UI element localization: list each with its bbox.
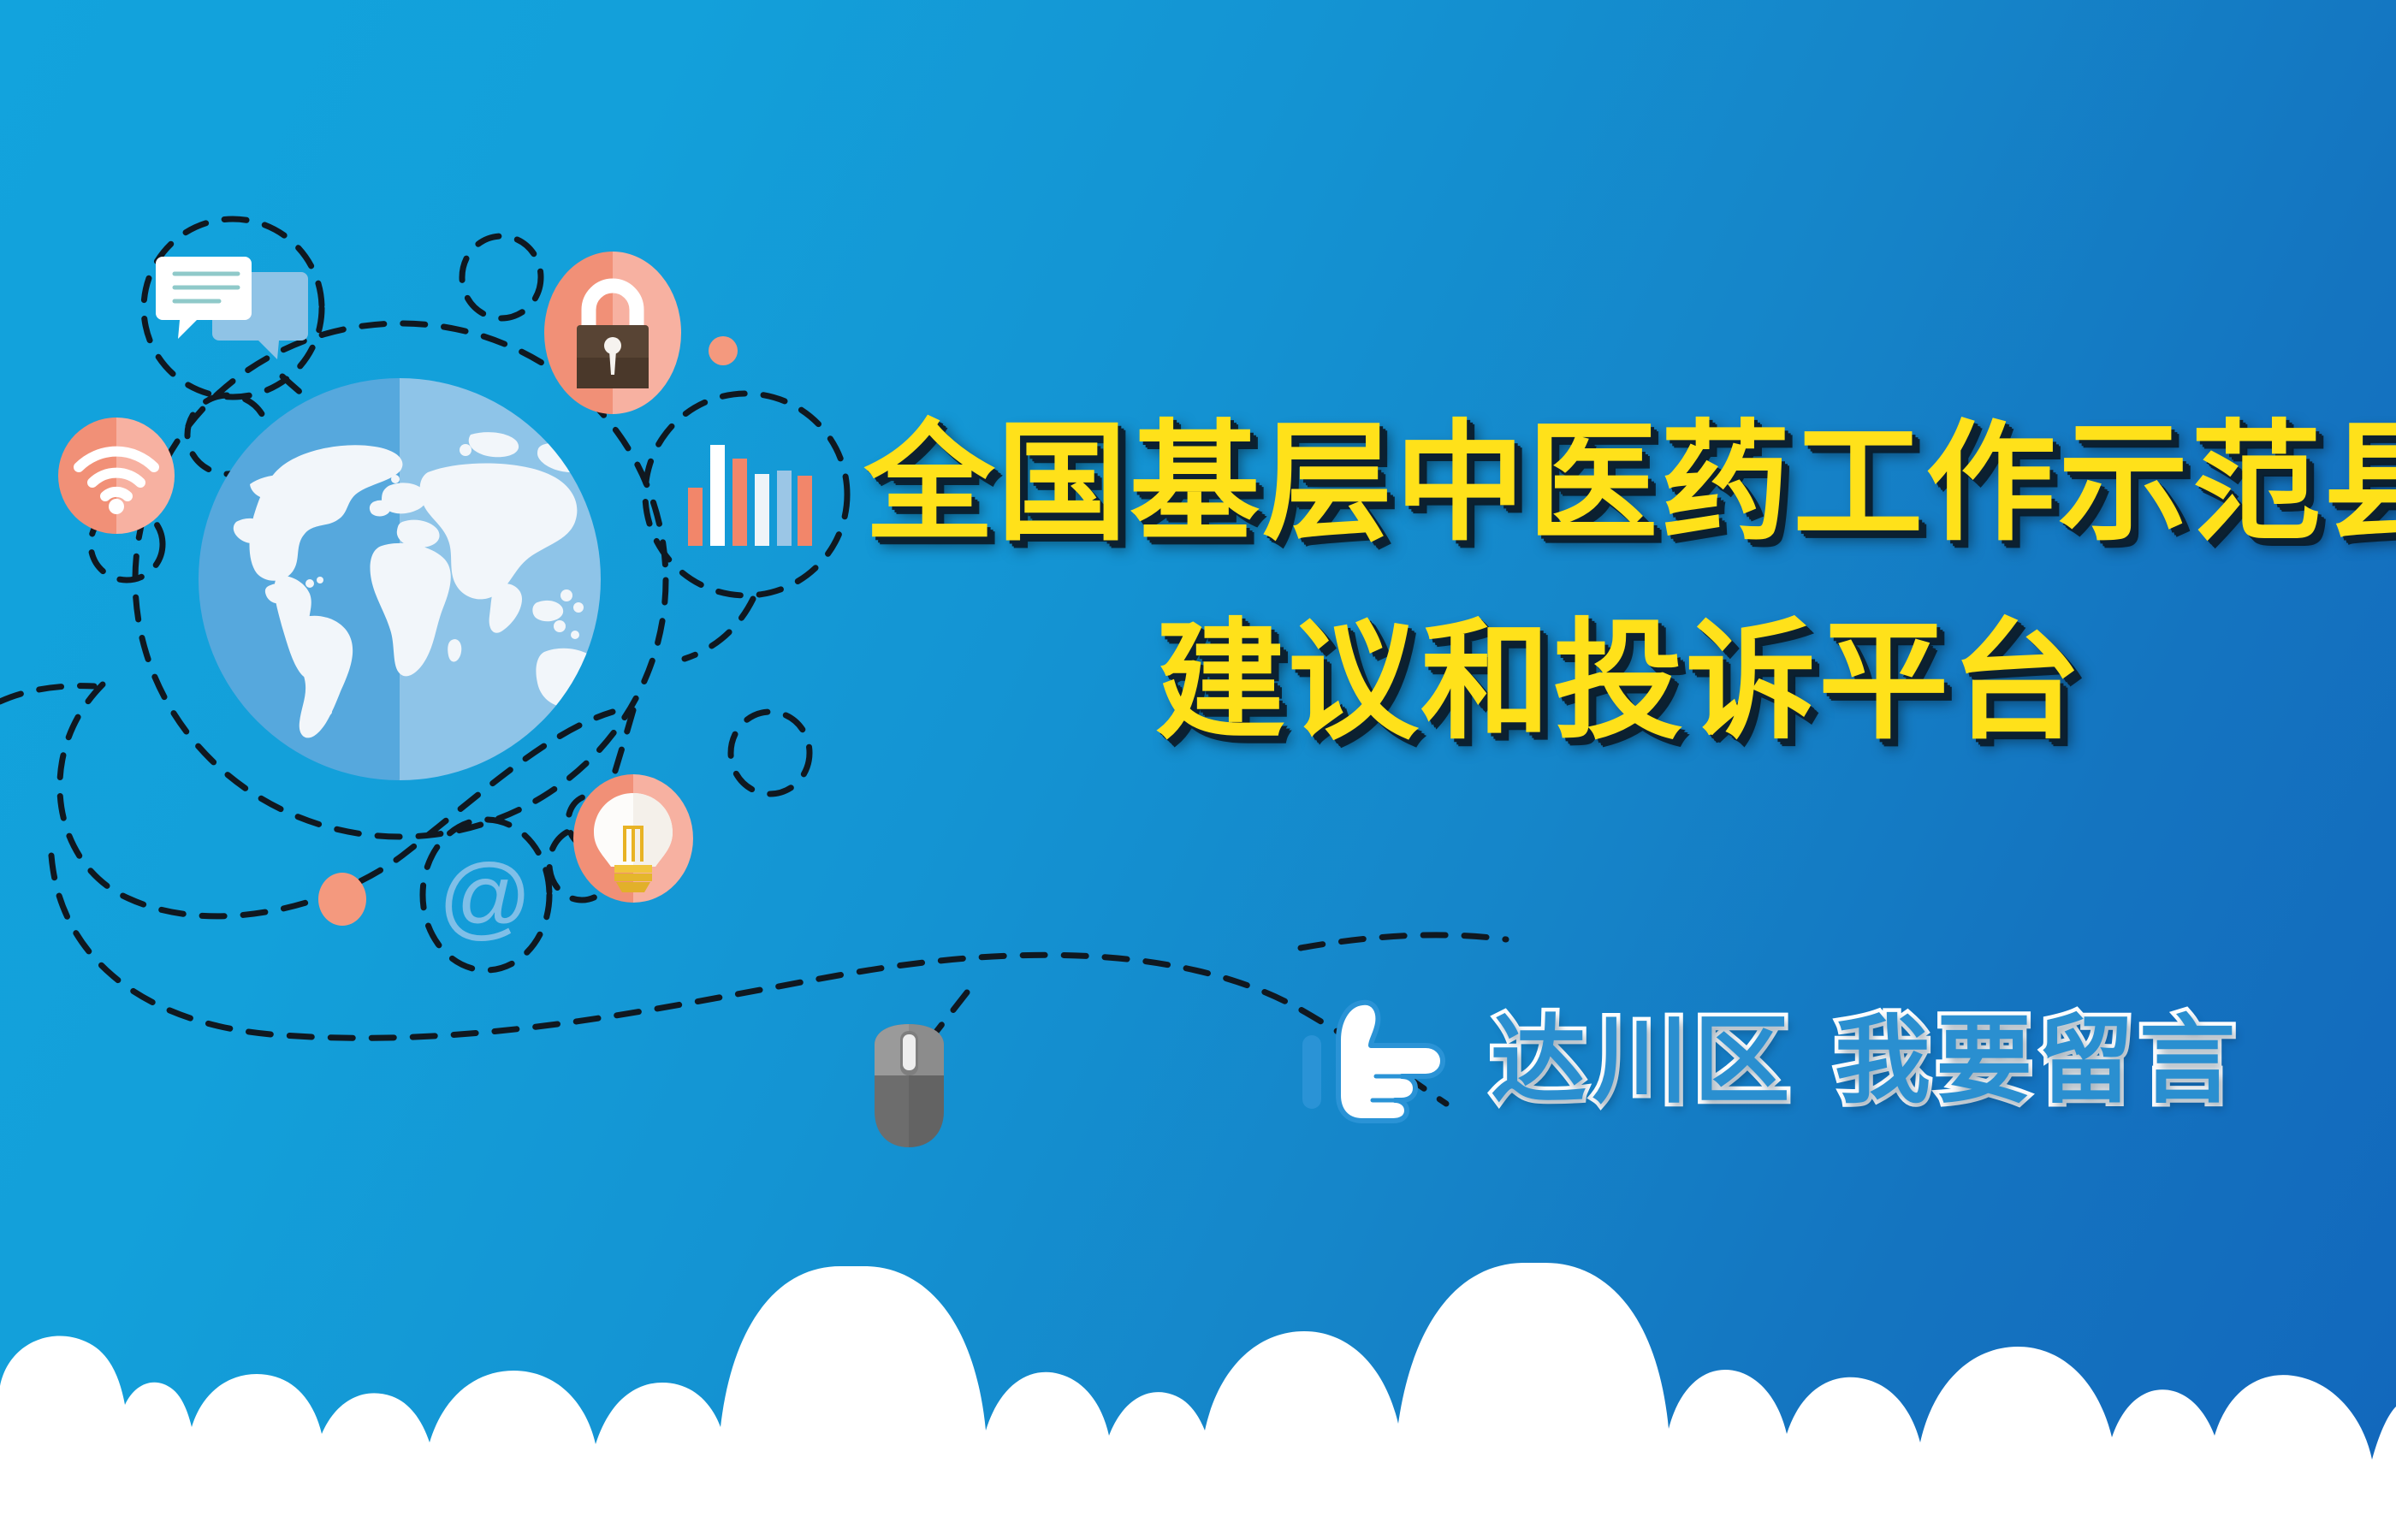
chat-bubbles-icon — [152, 248, 315, 376]
lightbulb-icon — [573, 774, 693, 903]
hand-cuff — [1302, 1035, 1321, 1109]
lock-icon-badge — [544, 252, 681, 414]
wifi-icon — [58, 418, 175, 534]
small-dashed-circle-1 — [462, 236, 541, 318]
bar-chart-icon — [685, 436, 813, 552]
computer-mouse-icon — [864, 1022, 954, 1151]
lightbulb-icon-badge — [573, 774, 693, 903]
accent-dot-1 — [709, 336, 738, 365]
hand-shape — [1338, 1003, 1443, 1121]
page-title-line-1: 全国基层中医药工作示范县 — [864, 411, 2370, 556]
lock-icon — [544, 252, 681, 414]
dashed-edge-right — [1301, 935, 1506, 948]
cloud-decoration — [0, 1181, 2396, 1540]
headline-block: 全国基层中医药工作示范县 建议和投诉平台 — [864, 411, 2370, 755]
accent-dot-2 — [318, 873, 366, 926]
dashed-swoosh-main — [51, 856, 1446, 1104]
cta-label: 达川区 我要留言 — [1491, 1010, 2241, 1112]
banner-canvas: @ 全国基层中医药工作示范县 建议和投诉平台 达川区 我要留言 — [0, 0, 2396, 1540]
page-title-line-2: 建议和投诉平台 — [1155, 609, 2370, 755]
dashed-connector-bulb — [685, 599, 753, 659]
dashed-edge-left — [0, 686, 94, 702]
wifi-icon-badge — [58, 418, 175, 534]
at-sign-icon: @ — [438, 847, 532, 945]
leave-message-cta[interactable]: 达川区 我要留言 — [1301, 992, 2241, 1129]
small-dashed-circle-5 — [731, 712, 810, 794]
pointing-hand-icon — [1301, 992, 1446, 1129]
globe-icon — [199, 378, 601, 780]
